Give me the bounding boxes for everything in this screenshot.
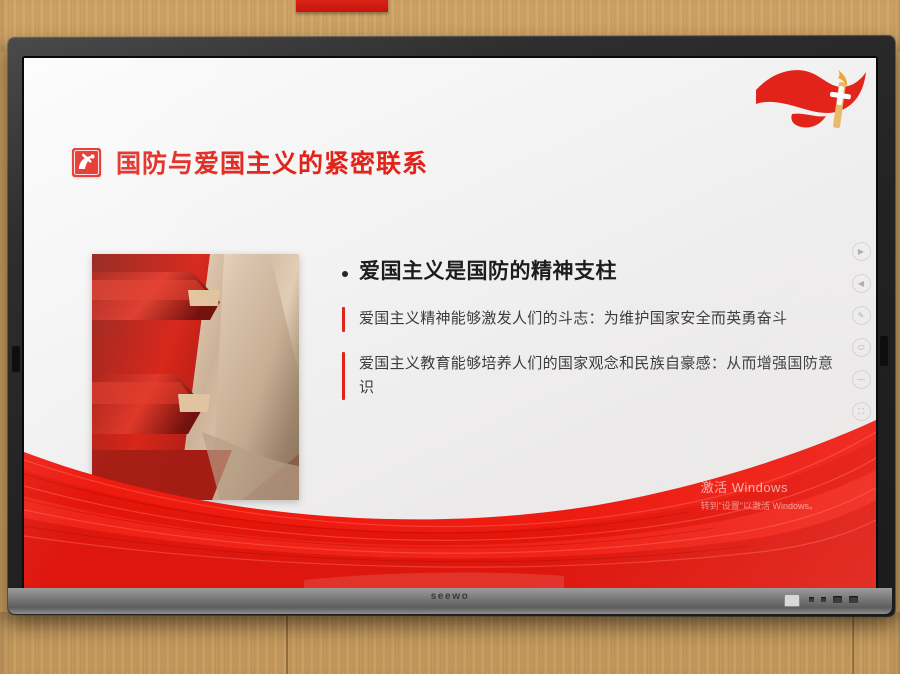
body-paragraph-text: 爱国主义教育能够培养人们的国家观念和民族自豪感：从而增强国防意识 [359,352,836,401]
play-back-icon[interactable]: ◀ [852,274,871,293]
eraser-glyph: ⬭ [858,343,865,353]
slide-body: 爱国主义是国防的精神支柱 爱国主义精神能够激发人们的斗志：为维护国家安全而英勇奋… [342,258,836,420]
bezel-side-button-right[interactable] [880,336,888,366]
watermark-title: 激活 Windows [701,477,818,496]
interactive-whiteboard-display[interactable]: 国防与爱国主义的紧密联系 [6,36,894,616]
eraser-icon[interactable]: ⬭ [852,338,871,357]
windows-activation-watermark: 激活 Windows 转到"设置"以激活 Windows。 [701,477,818,512]
page-title: 国防与爱国主义的紧密联系 [116,144,428,180]
screenshot-icon[interactable]: ⛶ [852,402,871,421]
pen-annotate-icon[interactable]: ✎ [852,306,871,325]
accent-bar [342,307,345,331]
bullet-dot-icon [342,271,348,277]
watermark-subtitle: 转到"设置"以激活 Windows。 [701,499,818,512]
brand-label: seewo [8,591,892,602]
display-brand-bar: seewo [8,588,892,614]
bezel-side-button-left[interactable] [12,346,20,372]
accent-bar [342,352,345,401]
play-back-glyph: ◀ [858,279,864,288]
body-paragraph: 爱国主义精神能够激发人们的斗志：为维护国家安全而英勇奋斗 [342,307,836,331]
screenshot-glyph: ⛶ [858,407,864,417]
port-group [809,596,858,603]
port [821,597,826,602]
play-forward-glyph: ▶ [858,247,864,256]
minimize-icon[interactable]: — [852,370,871,389]
port [809,597,814,602]
body-heading: 爱国主义是国防的精神支柱 [342,258,836,285]
wall-seam [286,612,288,674]
floating-toolbar[interactable]: ▶ ◀ ✎ ⬭ — ⛶ [848,242,874,421]
play-forward-icon[interactable]: ▶ [852,242,871,261]
red-banner-strip [296,0,388,12]
minimize-glyph: — [857,375,865,384]
slide-title-row: 国防与爱国主义的紧密联系 [72,144,428,180]
usb-port [833,596,842,603]
power-button[interactable] [784,594,800,607]
pen-glyph: ✎ [858,311,865,320]
body-heading-text: 爱国主义是国防的精神支柱 [359,258,617,285]
wall-lower-panel [0,612,900,674]
red-flag-torch-icon [752,60,870,152]
usb-port [849,596,858,603]
screen-slide-canvas[interactable]: 国防与爱国主义的紧密联系 [24,58,876,590]
hammer-and-sickle-icon [72,148,101,177]
body-paragraph: 爱国主义教育能够培养人们的国家观念和民族自豪感：从而增强国防意识 [342,352,836,401]
body-paragraph-text: 爱国主义精神能够激发人们的斗志：为维护国家安全而英勇奋斗 [359,307,787,331]
wall-seam [852,612,854,674]
